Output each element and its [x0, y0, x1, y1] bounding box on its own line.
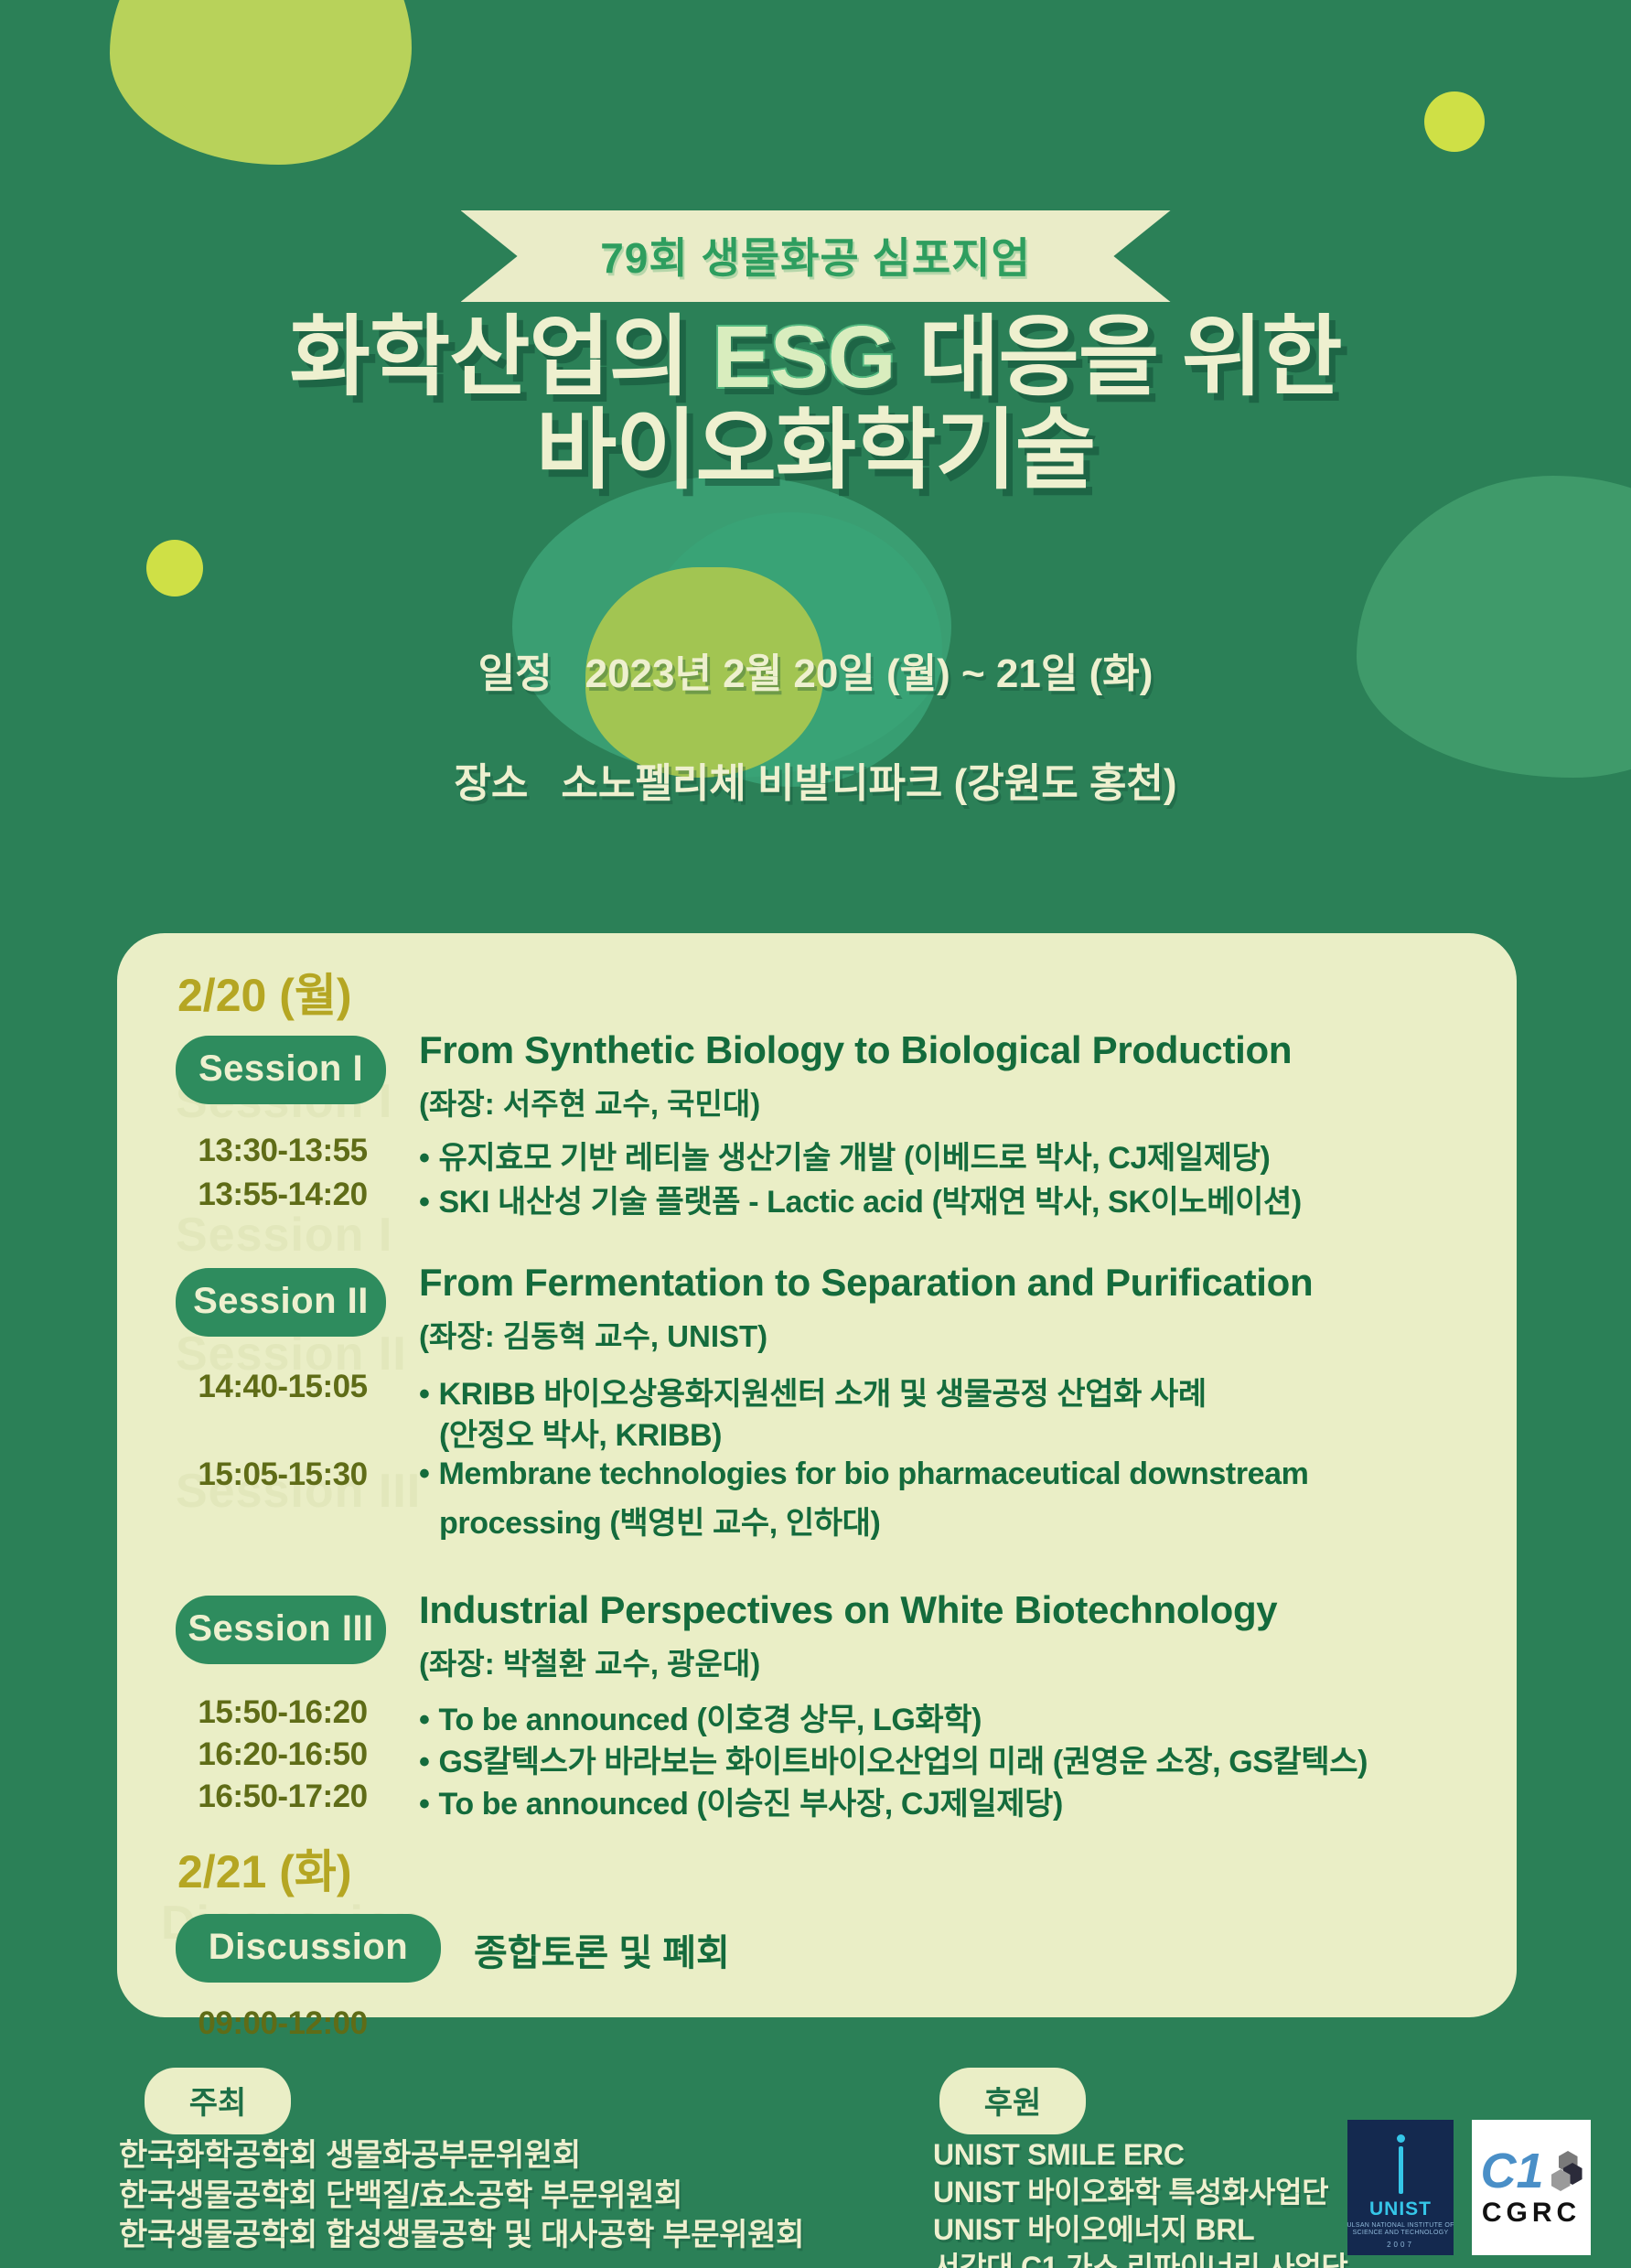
unist-logo-subtitle: ULSAN NATIONAL INSTITUTE OF SCIENCE AND …: [1347, 2222, 1454, 2239]
bullet-icon: •: [419, 1185, 430, 1220]
session-2-talk-1-cont: (안정오 박사, KRIBB): [439, 1410, 722, 1455]
unist-logo-year: 2007: [1387, 2241, 1414, 2249]
ghost-session-1b: Session I: [176, 1208, 392, 1263]
session-3-chair: (좌장: 박철환 교수, 광운대): [419, 1639, 760, 1683]
session-1-chair: (좌장: 서주현 교수, 국민대): [419, 1080, 760, 1123]
ribbon-banner: 79회 생물화공 심포지엄: [0, 210, 1631, 302]
session-3-talk-3: •To be announced (이승진 부사장, CJ제일제당): [419, 1779, 1063, 1823]
unist-tower-icon: [1399, 2146, 1403, 2194]
session-3-talk-3-time: 16:50-17:20: [168, 1779, 397, 1815]
title-line-1-post: 대응을 위한: [896, 308, 1342, 406]
title-line-2: 바이오화학기술: [0, 404, 1631, 498]
decorative-dot-middle-left: [146, 540, 203, 597]
unist-star-icon: [1397, 2134, 1405, 2143]
session-3-talk-2-time: 16:20-16:50: [168, 1736, 397, 1773]
sponsor-organizations-list: UNIST SMILE ERC UNIST 바이오화학 특성화사업단 UNIST…: [933, 2136, 1348, 2268]
page-title: 화학산업의 ESG 대응을 위한 바이오화학기술: [0, 311, 1631, 498]
session-2-talk-2: •Membrane technologies for bio pharmaceu…: [419, 1456, 1309, 1492]
poster-root: 79회 생물화공 심포지엄 화학산업의 ESG 대응을 위한 바이오화학기술 일…: [0, 0, 1631, 2268]
session-2-talk-2-time: 15:05-15:30: [168, 1456, 397, 1493]
place-label: 장소: [454, 761, 528, 806]
bullet-icon: •: [419, 1745, 430, 1779]
program-card: Session I Session I Session II Session I…: [117, 933, 1517, 2017]
day-1-label: 2/20 (월): [177, 959, 352, 1025]
session-1-title: From Synthetic Biology to Biological Pro…: [419, 1028, 1292, 1072]
decorative-dot-top-right: [1424, 91, 1485, 152]
session-2-talk-1-time: 14:40-15:05: [168, 1369, 397, 1405]
session-2-talk-1: •KRIBB 바이오상용화지원센터 소개 및 생물공정 산업화 사례: [419, 1369, 1207, 1413]
session-3-talk-2: •GS칼텍스가 바라보는 화이트바이오산업의 미래 (권영운 소장, GS칼텍스…: [419, 1736, 1368, 1781]
c1-logo-row: C1: [1480, 2146, 1582, 2196]
host-organizations-list: 한국화학공학회 생물화공부문위원회 한국생물공학회 단백질/효소공학 부문위원회…: [119, 2136, 804, 2256]
date-value: 2023년 2월 20일 (월) ~ 21일 (화): [585, 651, 1154, 696]
bullet-icon: •: [419, 1456, 430, 1491]
session-2-chair: (좌장: 김동혁 교수, UNIST): [419, 1312, 767, 1356]
session-1-talk-2: •SKI 내산성 기술 플랫폼 - Lactic acid (박재연 박사, S…: [419, 1177, 1302, 1221]
decorative-blob-right: [1357, 476, 1631, 778]
hexagon-cluster-icon: [1546, 2151, 1583, 2191]
session-3-talk-1: •To be announced (이호경 상무, LG화학): [419, 1694, 982, 1739]
unist-logo: UNIST ULSAN NATIONAL INSTITUTE OF SCIENC…: [1347, 2120, 1454, 2255]
discussion-time: 09:00-12:00: [168, 2005, 397, 2042]
bullet-icon: •: [419, 1141, 430, 1176]
title-esg-highlight: ESG: [713, 308, 896, 406]
title-line-1-pre: 화학산업의: [290, 308, 713, 406]
title-line-1: 화학산업의 ESG 대응을 위한: [0, 311, 1631, 404]
session-3-title: Industrial Perspectives on White Biotech…: [419, 1588, 1277, 1632]
bullet-icon: •: [419, 1377, 430, 1412]
session-1-talk-1: •유지효모 기반 레티놀 생산기술 개발 (이베드로 박사, CJ제일제당): [419, 1133, 1270, 1177]
event-place-row: 장소소노펠리체 비발디파크 (강원도 홍천): [0, 750, 1631, 809]
sponsor-label-pill: 후원: [939, 2068, 1086, 2134]
session-1-talk-1-time: 13:30-13:55: [168, 1133, 397, 1169]
date-label: 일정: [478, 651, 553, 696]
bullet-icon: •: [419, 1703, 430, 1737]
c1-cgrc-logo: C1 CGRC: [1472, 2120, 1591, 2255]
session-1-talk-2-time: 13:55-14:20: [168, 1177, 397, 1213]
cgrc-logo-text: CGRC: [1482, 2198, 1581, 2229]
session-2-title: From Fermentation to Separation and Puri…: [419, 1261, 1313, 1305]
session-1-pill[interactable]: Session I: [176, 1036, 386, 1104]
unist-logo-name: UNIST: [1369, 2199, 1432, 2219]
c1-logo-text: C1: [1480, 2146, 1543, 2196]
session-2-pill[interactable]: Session II: [176, 1268, 386, 1337]
event-date-row: 일정2023년 2월 20일 (월) ~ 21일 (화): [0, 640, 1631, 699]
session-2-talk-2-cont: processing (백영빈 교수, 인하대): [439, 1498, 880, 1542]
discussion-text: 종합토론 및 폐회: [474, 1923, 730, 1976]
bullet-icon: •: [419, 1787, 430, 1822]
discussion-pill[interactable]: Discussion: [176, 1914, 441, 1983]
host-label-pill: 주최: [145, 2068, 291, 2134]
place-value: 소노펠리체 비발디파크 (강원도 홍천): [561, 761, 1176, 806]
session-3-talk-1-time: 15:50-16:20: [168, 1694, 397, 1731]
session-3-pill[interactable]: Session III: [176, 1596, 386, 1664]
day-2-label: 2/21 (화): [177, 1835, 352, 1901]
ribbon-label: 79회 생물화공 심포지엄: [600, 225, 1031, 285]
